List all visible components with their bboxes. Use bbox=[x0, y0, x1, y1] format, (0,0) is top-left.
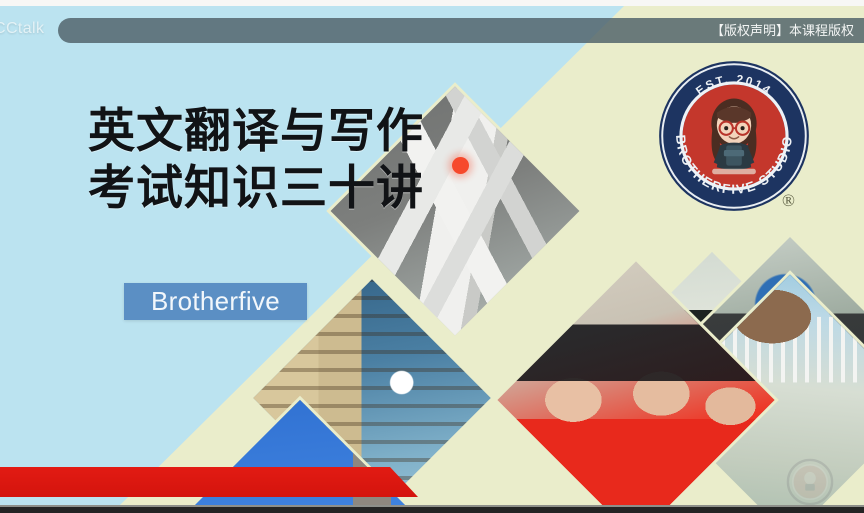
slide-title-line-1: 英文翻译与写作 bbox=[88, 102, 424, 159]
slide-red-band bbox=[0, 467, 418, 497]
brotherfive-seal-watermark bbox=[786, 458, 834, 505]
top-edge-strip bbox=[0, 0, 864, 6]
presenter-nameplate-label: Brotherfive bbox=[151, 286, 280, 317]
presentation-slide: 英文翻译与写作 考试知识三十讲 Brotherfive bbox=[0, 6, 864, 505]
copyright-notice-bar: 【版权声明】本课程版权 bbox=[58, 18, 864, 43]
cctalk-watermark: CCtalk bbox=[0, 20, 44, 38]
bottom-edge-strip bbox=[0, 507, 864, 513]
video-player-frame: 英文翻译与写作 考试知识三十讲 Brotherfive bbox=[0, 0, 864, 513]
slide-title: 英文翻译与写作 考试知识三十讲 bbox=[88, 102, 424, 216]
presenter-nameplate: Brotherfive bbox=[124, 283, 307, 320]
copyright-notice-text: 【版权声明】本课程版权 bbox=[711, 21, 854, 40]
laser-pointer-dot bbox=[452, 157, 469, 174]
slide-title-line-2: 考试知识三十讲 bbox=[88, 159, 424, 216]
registered-trademark-mark: ® bbox=[782, 191, 795, 211]
